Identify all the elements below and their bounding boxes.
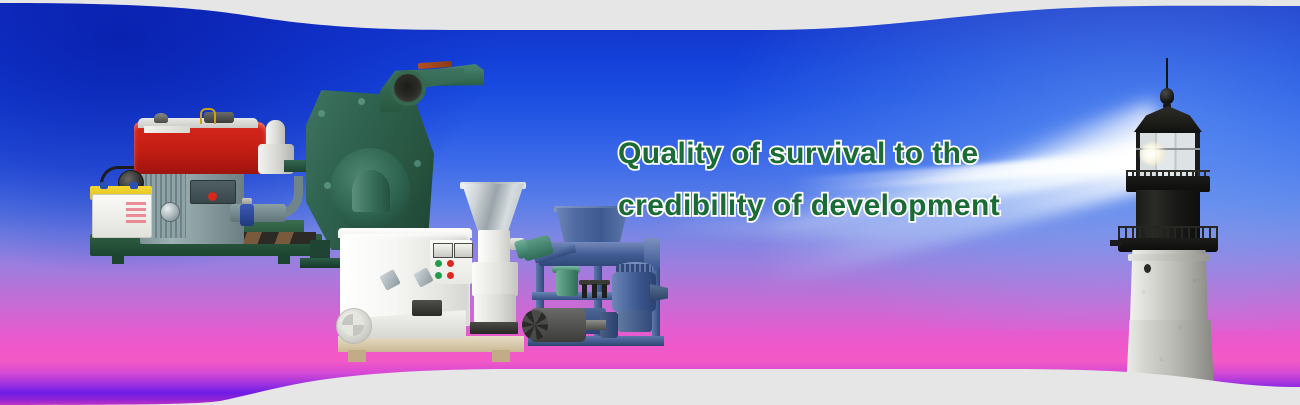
pellet-mill-gauge-right	[454, 243, 473, 258]
lighthouse-lightning-rod	[1166, 58, 1168, 92]
diesel-engine-image	[82, 108, 332, 280]
lighthouse-image	[1096, 58, 1246, 388]
lighthouse-lamp	[1140, 142, 1166, 166]
pellet-mill-start-button	[435, 260, 442, 267]
extruder-valve-stem	[602, 284, 607, 298]
hammer-mill-bolt	[414, 160, 421, 167]
engine-red-handle	[208, 192, 217, 201]
engine-fuel-filter	[240, 204, 254, 226]
extruder-valve-stem	[592, 284, 597, 298]
lighthouse-stone-texture	[1126, 250, 1214, 390]
pellet-mill-outlet-tray	[470, 322, 518, 334]
headline-line-2: credibility of development	[618, 180, 1088, 232]
engine-knob	[154, 113, 168, 123]
engine-hood-label	[144, 126, 190, 133]
pellet-mill-lower-body	[474, 294, 516, 324]
pellet-mill-pallet-block-right	[492, 350, 510, 362]
lighthouse-porthole	[1144, 264, 1151, 273]
lighthouse-lantern-roof	[1134, 106, 1202, 132]
hammer-mill-bolt	[324, 182, 331, 189]
pellet-mill-neck	[478, 230, 510, 264]
lighthouse-gallery-bracket	[1110, 240, 1122, 246]
engine-dial	[160, 202, 180, 222]
headline-line-1: Quality of survival to the	[618, 128, 1088, 180]
engine-battery-terminal-negative	[130, 182, 138, 189]
hammer-mill-inlet-mouth	[390, 70, 426, 106]
engine-lift-hook	[200, 108, 216, 124]
pellet-mill-vent	[412, 300, 442, 316]
hammer-mill-bolt	[358, 98, 365, 105]
extruder-die-housing	[618, 310, 652, 332]
engine-exhaust-pipe-lower	[230, 204, 286, 222]
extruder-barrel	[612, 272, 656, 312]
extruder-motor-shaft	[584, 320, 606, 330]
hammer-mill-bolt	[318, 110, 325, 117]
pellet-mill-pallet-block-left	[348, 350, 366, 362]
engine-foot-right	[278, 254, 290, 264]
promo-banner: Quality of survival to the credibility o…	[0, 0, 1300, 405]
engine-battery-terminal-positive	[100, 182, 108, 189]
extruder-green-motor	[556, 270, 578, 296]
pellet-mill-stop-button	[447, 260, 454, 267]
banner-headline: Quality of survival to the credibility o…	[618, 128, 1088, 232]
engine-battery-label	[126, 202, 146, 224]
extruder-motor-fan-cover	[522, 310, 548, 340]
extruder-outlet-chute	[650, 284, 668, 302]
pellet-mill-gauge-left	[433, 243, 453, 258]
pellet-mill-fan-blades	[342, 314, 364, 336]
pellet-mill-start-button-2	[435, 272, 442, 279]
pellet-mill-image	[334, 182, 534, 368]
engine-foot-left	[112, 254, 124, 264]
pellet-mill-stop-button-2	[447, 272, 454, 279]
extruder-valve-stem	[582, 284, 587, 298]
